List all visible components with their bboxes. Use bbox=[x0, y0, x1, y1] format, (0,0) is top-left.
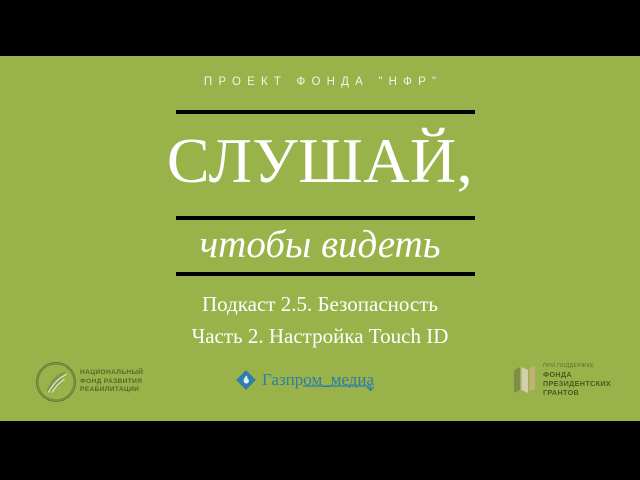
slide-main-title: СЛУШАЙ, bbox=[0, 124, 640, 198]
presentation-slide: ПРОЕКТ ФОНДА "НФР" СЛУШАЙ, чтобы видеть … bbox=[0, 56, 640, 421]
logo-grants-line-1: ФОНДА bbox=[543, 370, 611, 379]
logo-grants-line-2: ПРЕЗИДЕНТСКИХ bbox=[543, 379, 611, 388]
logo-grants-kicker: ПРИ ПОДДЕРЖКЕ bbox=[543, 362, 611, 370]
logo-grants-line-3: ГРАНТОВ bbox=[543, 388, 611, 397]
episode-part-line: Часть 2. Настройка Touch ID bbox=[0, 320, 640, 352]
gazprom-diamond-flame-icon bbox=[236, 370, 256, 390]
episode-info-block: Подкаст 2.5. Безопасность Часть 2. Настр… bbox=[0, 288, 640, 352]
slide-subtitle-italic: чтобы видеть bbox=[0, 222, 640, 268]
logo-grants-wordmark: ПРИ ПОДДЕРЖКЕ ФОНДА ПРЕЗИДЕНТСКИХ ГРАНТО… bbox=[543, 362, 611, 397]
logo-nfr-wordmark: НАЦИОНАЛЬНЫЙ ФОНД РАЗВИТИЯ РЕАБИЛИТАЦИИ bbox=[80, 369, 143, 395]
sponsor-logo-strip: НАЦИОНАЛЬНЫЙ ФОНД РАЗВИТИЯ РЕАБИЛИТАЦИИ … bbox=[0, 356, 640, 416]
presidential-grants-ribbon-icon bbox=[512, 364, 538, 396]
logo-nfr-line-3: РЕАБИЛИТАЦИИ bbox=[80, 386, 143, 395]
logo-gazprom-media: Газпром_медиа bbox=[236, 370, 374, 390]
divider-rule-bottom bbox=[176, 272, 475, 276]
logo-presidential-grants-fund: ПРИ ПОДДЕРЖКЕ ФОНДА ПРЕЗИДЕНТСКИХ ГРАНТО… bbox=[512, 362, 611, 397]
circular-leaf-emblem-icon bbox=[36, 362, 76, 402]
slide-eyebrow-text: ПРОЕКТ ФОНДА "НФР" bbox=[0, 76, 640, 88]
divider-rule-top bbox=[176, 110, 475, 114]
logo-gazprom-wordmark: Газпром_медиа bbox=[262, 371, 374, 389]
logo-nfr: НАЦИОНАЛЬНЫЙ ФОНД РАЗВИТИЯ РЕАБИЛИТАЦИИ bbox=[36, 362, 143, 402]
logo-nfr-line-1: НАЦИОНАЛЬНЫЙ bbox=[80, 369, 143, 378]
logo-nfr-line-2: ФОНД РАЗВИТИЯ bbox=[80, 378, 143, 387]
video-letterbox-frame: ПРОЕКТ ФОНДА "НФР" СЛУШАЙ, чтобы видеть … bbox=[0, 0, 640, 480]
underline-arrow-icon bbox=[262, 384, 374, 391]
episode-podcast-line: Подкаст 2.5. Безопасность bbox=[0, 288, 640, 320]
divider-rule-middle bbox=[176, 216, 475, 220]
